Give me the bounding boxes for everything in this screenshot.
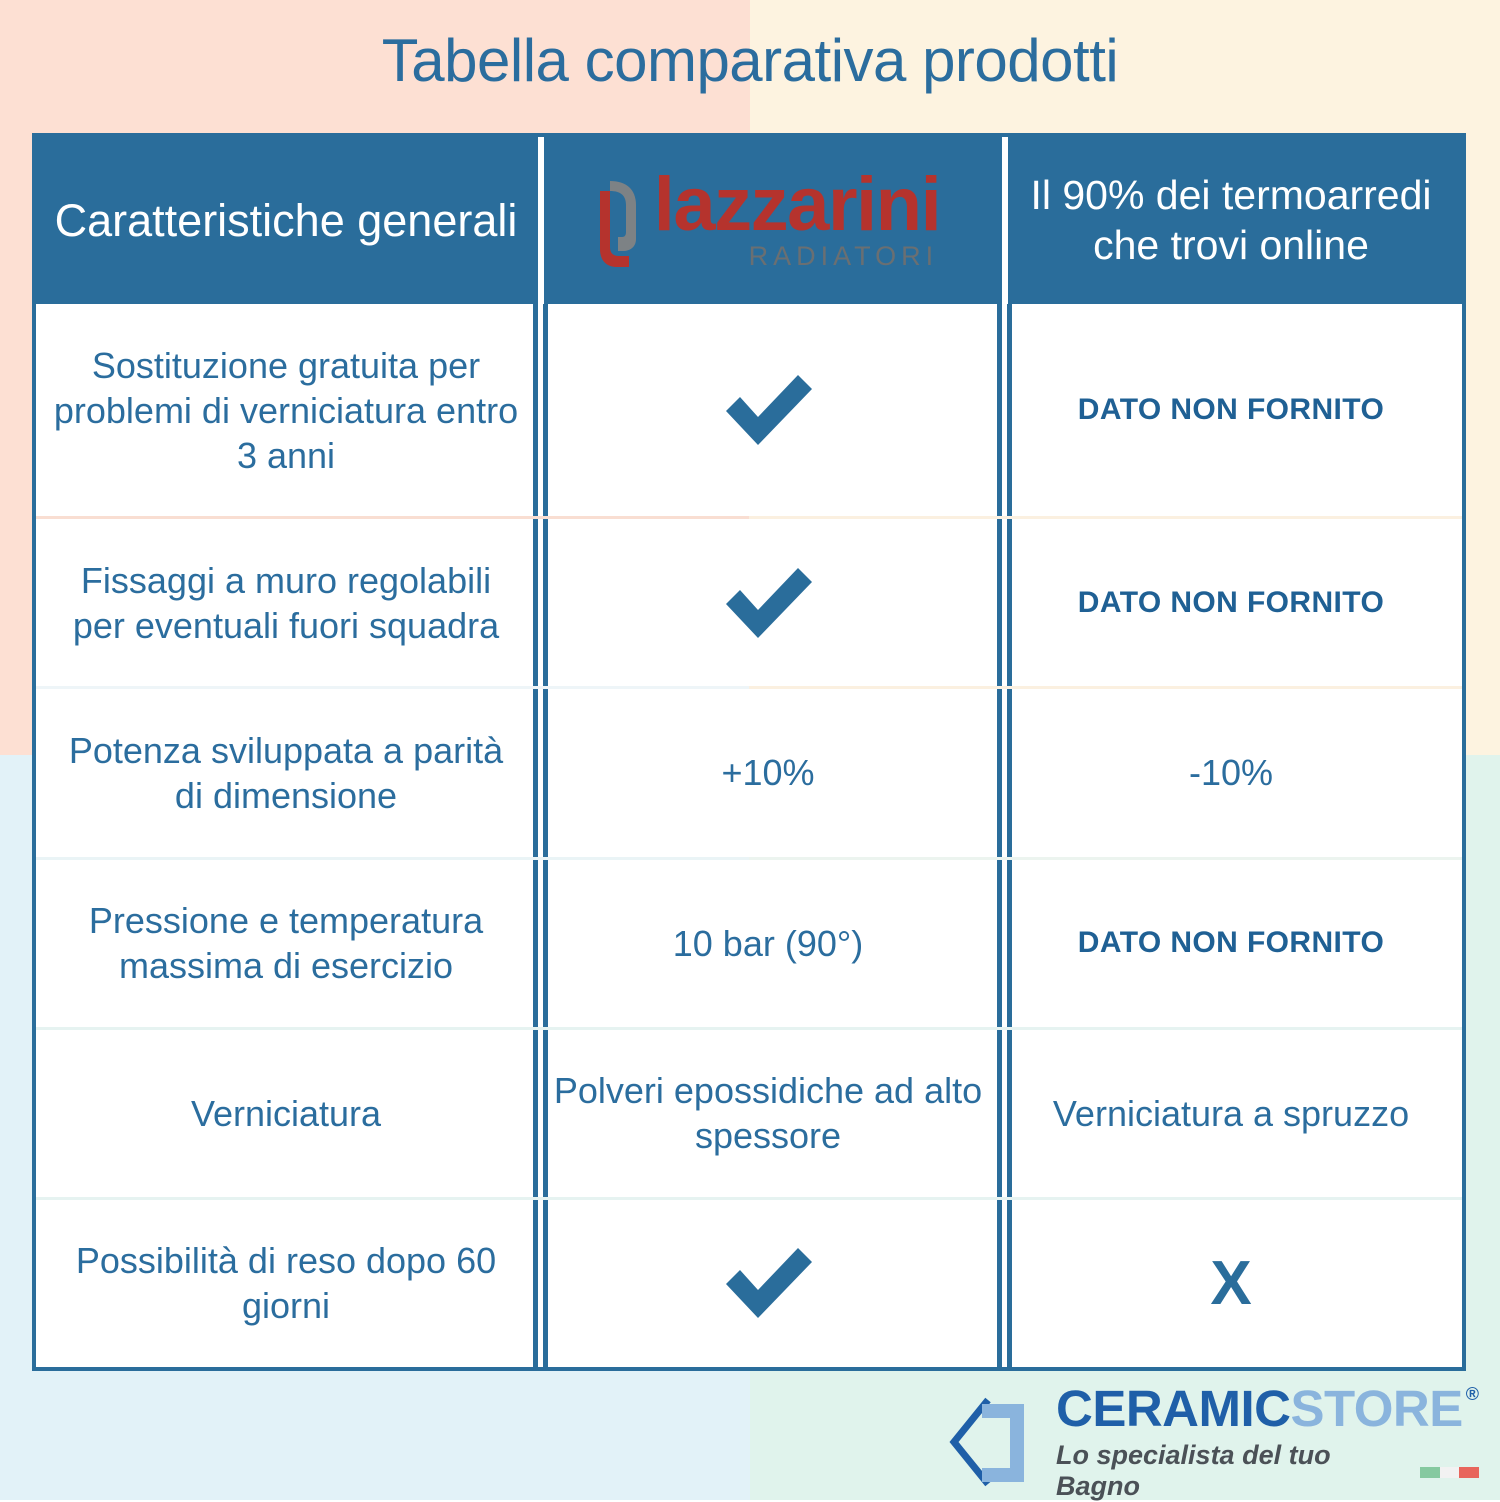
- lazzarini-wordmark: lazzarini RADIATORI: [654, 169, 940, 270]
- header-divider-1: [538, 137, 544, 304]
- lazzarini-logo: lazzarini RADIATORI: [550, 169, 986, 273]
- header-cell-competitors: Il 90% dei termoarredi che trovi online: [1000, 137, 1462, 304]
- header-cell-lazzarini: lazzarini RADIATORI: [536, 137, 1000, 304]
- check-icon: [716, 1244, 820, 1322]
- header-divider-2: [1002, 137, 1008, 304]
- brand-ceramic: CERAMIC: [1056, 1383, 1291, 1434]
- lazzarini-mark-icon: [596, 175, 642, 273]
- feature-cell: Fissaggi a muro regolabili per eventuali…: [36, 519, 536, 686]
- competitors-value: DATO NON FORNITO: [1078, 924, 1384, 962]
- page-title: Tabella comparativa prodotti: [0, 28, 1500, 94]
- ceramicstore-tagline: Lo specialista del tuo Bagno: [1056, 1440, 1406, 1502]
- competitors-value-cell: X: [1000, 1200, 1462, 1367]
- feature-cell: Sostituzione gratuita per problemi di ve…: [36, 304, 536, 516]
- feature-label: Fissaggi a muro regolabili per eventuali…: [50, 558, 522, 648]
- lazzarini-value-cell: Polveri epossidiche ad alto spessore: [536, 1030, 1000, 1197]
- table-row: Possibilità di reso dopo 60 giorniX: [36, 1200, 1462, 1367]
- ceramicstore-wordmark: CERAMIC STORE ®: [1056, 1383, 1479, 1434]
- check-icon: [716, 371, 820, 449]
- feature-cell: Pressione e temperatura massima di eserc…: [36, 860, 536, 1027]
- lazzarini-value: +10%: [721, 750, 814, 795]
- header-competitors-label: Il 90% dei termoarredi che trovi online: [1014, 171, 1448, 269]
- ceramicstore-mark-icon: [948, 1396, 1040, 1488]
- lazzarini-value-cell: [536, 304, 1000, 516]
- table-body: Sostituzione gratuita per problemi di ve…: [36, 304, 1462, 1367]
- table-row: Sostituzione gratuita per problemi di ve…: [36, 304, 1462, 516]
- table-row: Pressione e temperatura massima di eserc…: [36, 860, 1462, 1027]
- header-features-label: Caratteristiche generali: [55, 195, 518, 247]
- competitors-value-cell: DATO NON FORNITO: [1000, 860, 1462, 1027]
- table-row: Fissaggi a muro regolabili per eventuali…: [36, 519, 1462, 686]
- italian-flag-icon: [1420, 1467, 1479, 1478]
- competitors-value-cell: DATO NON FORNITO: [1000, 304, 1462, 516]
- feature-label: Possibilità di reso dopo 60 giorni: [50, 1238, 522, 1328]
- lazzarini-word: lazzarini: [654, 169, 940, 241]
- lazzarini-value-cell: +10%: [536, 689, 1000, 856]
- competitors-value: DATO NON FORNITO: [1078, 584, 1384, 622]
- lazzarini-value: Polveri epossidiche ad alto spessore: [550, 1068, 986, 1158]
- lazzarini-value-cell: [536, 519, 1000, 686]
- registered-trademark-icon: ®: [1466, 1385, 1479, 1403]
- competitors-value-cell: -10%: [1000, 689, 1462, 856]
- check-icon: [716, 564, 820, 642]
- feature-cell: Verniciatura: [36, 1030, 536, 1197]
- lazzarini-value-cell: 10 bar (90°): [536, 860, 1000, 1027]
- competitors-value-cell: DATO NON FORNITO: [1000, 519, 1462, 686]
- feature-cell: Potenza sviluppata a parità di dimension…: [36, 689, 536, 856]
- lazzarini-subtitle: RADIATORI: [749, 243, 939, 270]
- competitors-value-cell: Verniciatura a spruzzo: [1000, 1030, 1462, 1197]
- feature-cell: Possibilità di reso dopo 60 giorni: [36, 1200, 536, 1367]
- table-row: Potenza sviluppata a parità di dimension…: [36, 689, 1462, 856]
- ceramicstore-logo[interactable]: CERAMIC STORE ® Lo specialista del tuo B…: [948, 1392, 1468, 1492]
- comparison-table: Caratteristiche generali lazzarini RADIA…: [32, 133, 1466, 1371]
- competitors-value: DATO NON FORNITO: [1078, 391, 1384, 429]
- cross-icon: X: [1210, 1245, 1251, 1323]
- brand-store: STORE: [1291, 1383, 1463, 1434]
- lazzarini-value: 10 bar (90°): [673, 921, 864, 966]
- table-header-row: Caratteristiche generali lazzarini RADIA…: [36, 137, 1462, 304]
- table-row: VerniciaturaPolveri epossidiche ad alto …: [36, 1030, 1462, 1197]
- lazzarini-value-cell: [536, 1200, 1000, 1367]
- competitors-value: -10%: [1189, 750, 1273, 795]
- header-cell-features: Caratteristiche generali: [36, 137, 536, 304]
- feature-label: Pressione e temperatura massima di eserc…: [50, 898, 522, 988]
- feature-label: Potenza sviluppata a parità di dimension…: [50, 728, 522, 818]
- competitors-value: Verniciatura a spruzzo: [1053, 1091, 1409, 1136]
- feature-label: Verniciatura: [191, 1091, 381, 1136]
- feature-label: Sostituzione gratuita per problemi di ve…: [50, 343, 522, 478]
